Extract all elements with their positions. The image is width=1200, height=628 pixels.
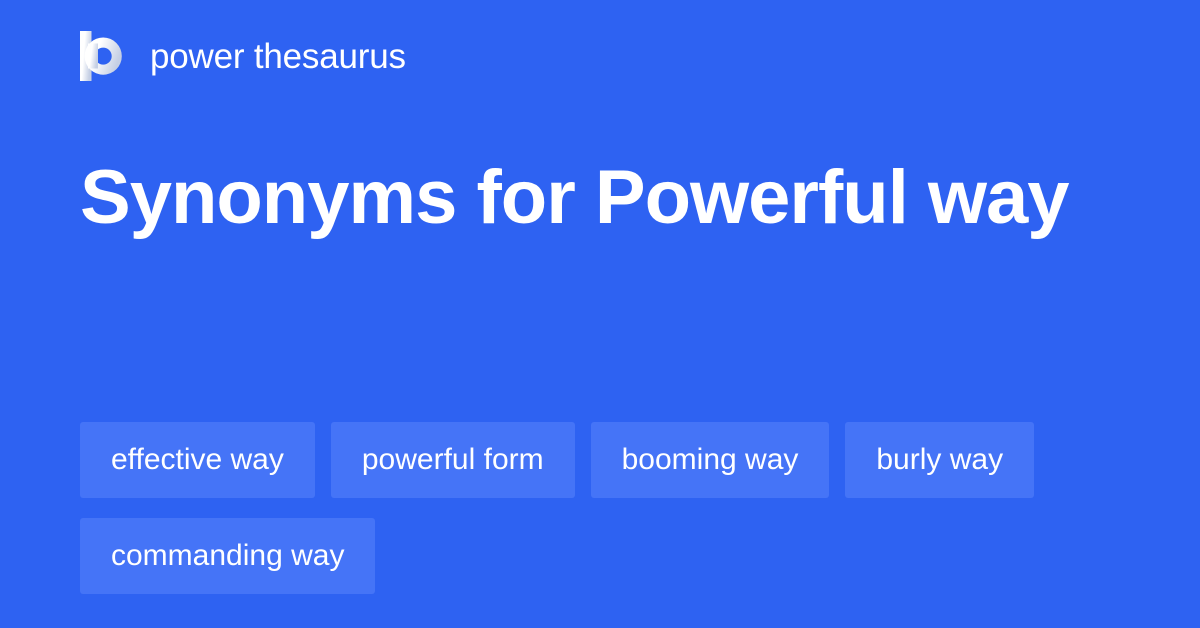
synonym-chip[interactable]: commanding way [80,518,375,594]
synonym-chip-label: powerful form [362,445,544,475]
brand-header[interactable]: power thesaurus [80,28,406,84]
synonym-chip-label: commanding way [111,541,344,571]
synonym-chip[interactable]: booming way [591,422,830,498]
synonym-chip[interactable]: powerful form [331,422,575,498]
synonym-chip-label: booming way [622,445,799,475]
page-title: Synonyms for Powerful way [80,140,1080,256]
synonym-chip-list: effective way powerful form booming way … [80,422,1120,594]
synonym-chip[interactable]: effective way [80,422,315,498]
synonym-chip-label: burly way [876,445,1003,475]
synonyms-share-card: power thesaurus Synonyms for Powerful wa… [0,0,1200,628]
power-thesaurus-b-logo-icon [80,31,128,81]
synonym-chip[interactable]: burly way [845,422,1034,498]
brand-name: power thesaurus [150,39,406,74]
synonym-chip-label: effective way [111,445,284,475]
